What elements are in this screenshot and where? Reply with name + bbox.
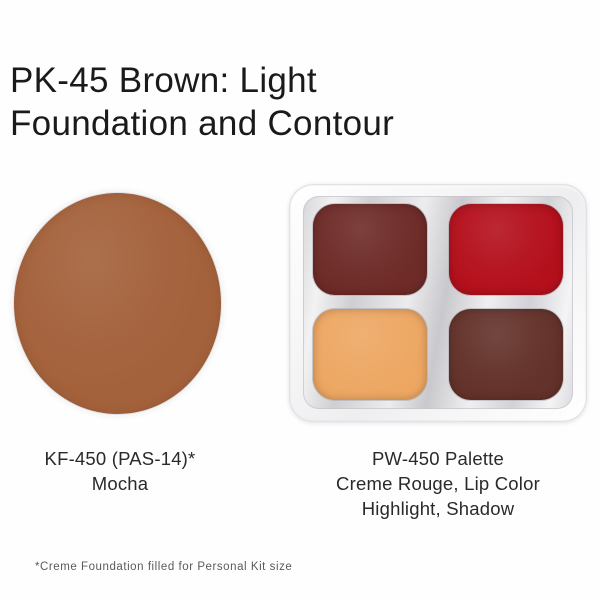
palette-pan-creme-rouge xyxy=(313,204,427,295)
page-title: PK-45 Brown: Light Foundation and Contou… xyxy=(10,59,590,145)
palette-pan-grid xyxy=(313,204,563,400)
product-image-pw-450 xyxy=(289,184,587,422)
product-figure: PK-45 Brown: Light Foundation and Contou… xyxy=(0,0,600,600)
palette-pan-highlight xyxy=(313,309,427,400)
palette-pan-lip-color xyxy=(449,204,563,295)
palette-pan-shadow xyxy=(449,309,563,400)
round-pan-mocha xyxy=(14,193,221,414)
caption-pw-450: PW-450 Palette Creme Rouge, Lip Color Hi… xyxy=(278,446,598,521)
footnote: *Creme Foundation filled for Personal Ki… xyxy=(35,560,292,575)
caption-kf-450: KF-450 (PAS-14)* Mocha xyxy=(0,446,240,496)
product-image-kf-450 xyxy=(10,189,225,418)
